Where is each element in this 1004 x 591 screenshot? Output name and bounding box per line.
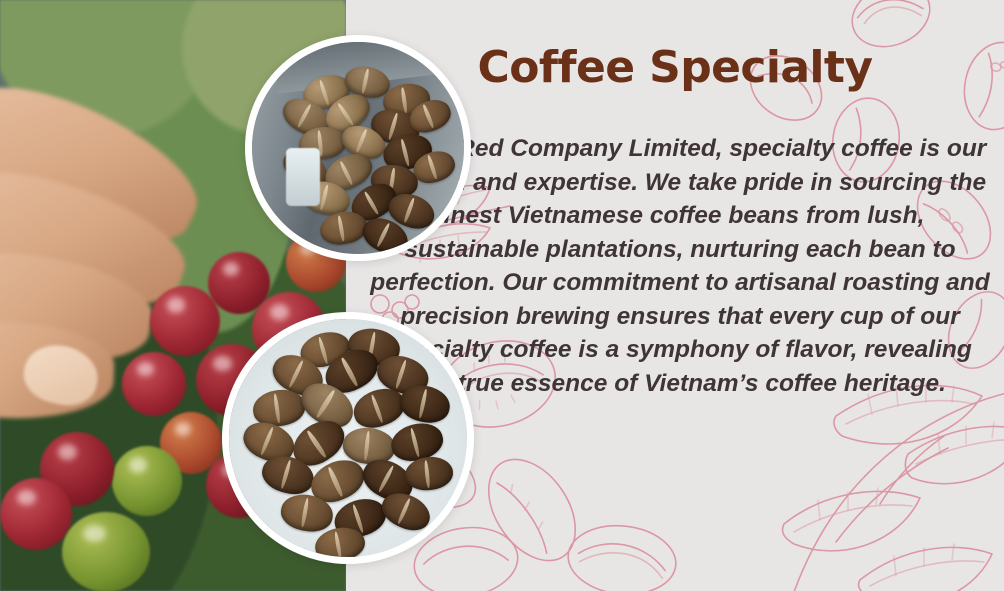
roasted-beans-in-bag-photo <box>245 35 471 261</box>
coffee-cherry <box>62 512 150 591</box>
coffee-cherry <box>112 446 182 516</box>
coffee-cherry <box>0 478 72 550</box>
coffee-cherry <box>150 286 220 356</box>
coffee-branch-leaves-outline <box>782 384 1004 591</box>
coffee-cherry <box>122 352 186 416</box>
roasted-beans-on-plate-photo <box>222 312 474 564</box>
bean-pile <box>252 42 464 254</box>
slide-canvas: Coffee Specialty At Viet Red Company Lim… <box>0 0 1004 591</box>
bag-label-tag <box>286 148 320 206</box>
coffee-bean-outline <box>565 521 680 591</box>
coffee-bean-outline <box>471 443 593 576</box>
bean-pile <box>229 319 467 557</box>
